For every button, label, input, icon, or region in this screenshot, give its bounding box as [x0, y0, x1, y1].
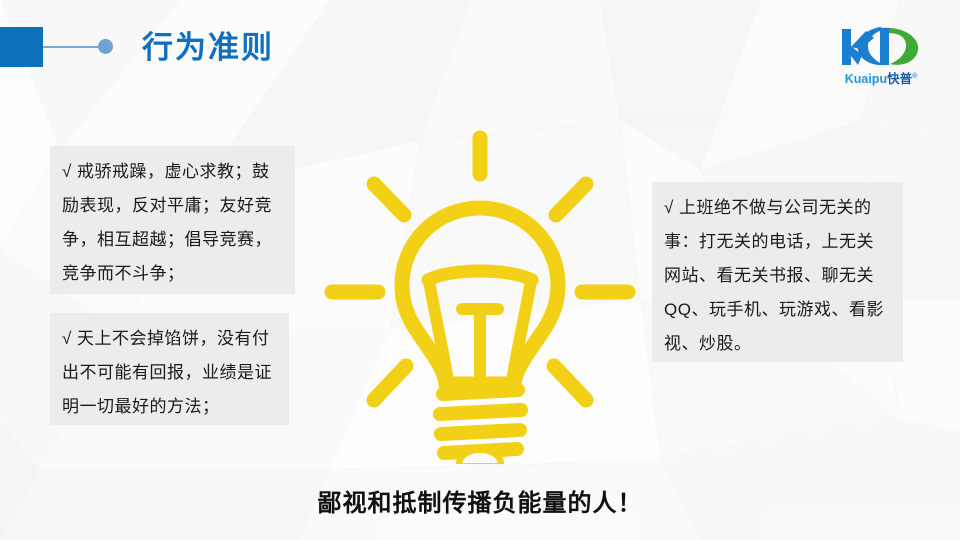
page-title: 行为准则 — [142, 22, 274, 67]
logo-chinese-text: 快普 — [887, 72, 912, 86]
note-box-right: √ 上班绝不做与公司无关的事：打无关的电话，上无关网站、看无关书报、聊无关QQ、… — [652, 182, 903, 362]
note-box-left-top: √ 戒骄戒躁，虚心求教；鼓励表现，反对平庸；友好竞争，相互超越；倡导竞赛，竞争而… — [50, 146, 295, 294]
logo-registered-mark: ® — [912, 73, 917, 80]
company-logo: Kuaipu快普® — [828, 22, 934, 86]
kuaipu-logo-mark — [828, 22, 934, 70]
slide-canvas: 行为准则 Kuaipu快普® — [0, 0, 960, 540]
logo-latin-text: Kuaipu — [845, 72, 887, 86]
note-box-left-bottom: √ 天上不会掉馅饼，没有付出不可能有回报，业绩是证明一切最好的方法； — [50, 313, 289, 425]
logo-wordmark: Kuaipu快普® — [828, 68, 934, 87]
header-connector-line — [43, 46, 100, 48]
footer-caption: 鄙视和抵制传播负能量的人！ — [0, 483, 960, 518]
lightbulb-icon — [310, 122, 650, 470]
header-connector-dot — [98, 39, 113, 54]
header-accent-block — [0, 27, 43, 67]
